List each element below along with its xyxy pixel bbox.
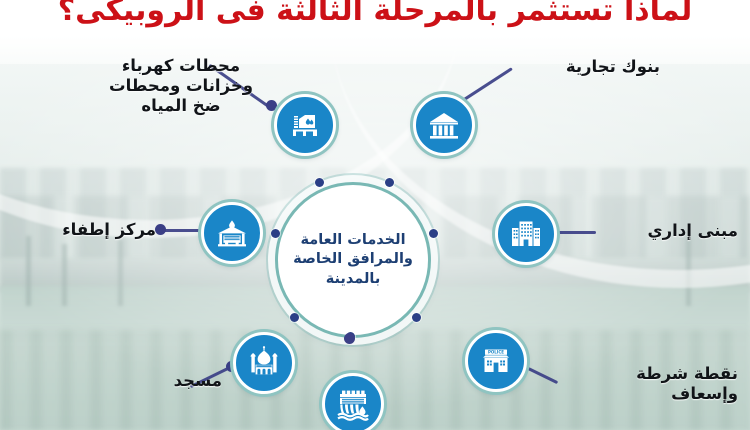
hub-ring-dot-5	[290, 313, 299, 322]
label-power-water: محطات كهرباء وخزانات ومحطات ضخ المياه	[88, 56, 274, 116]
node-power-water[interactable]	[274, 94, 336, 156]
hub-line-1: الخدمات العامة	[293, 231, 413, 250]
water-tank-station-icon	[287, 107, 323, 143]
hub-ring-dot-1	[315, 178, 324, 187]
police-station-icon: POLICE	[478, 343, 514, 379]
fire-station-icon	[214, 215, 250, 251]
svg-text:POLICE: POLICE	[488, 350, 504, 355]
hub-ring-dot-4	[429, 229, 438, 238]
node-banks[interactable]	[413, 94, 475, 156]
center-hub-text: الخدمات العامة والمرافق الخاصة بالمدينة	[283, 231, 423, 289]
page-title: لماذا تستثمر بالمرحلة الثالثة فى الروبيك…	[0, 0, 750, 34]
connector-dot-water-treatment	[344, 333, 355, 344]
label-fire-station: مركز إطفاء	[48, 220, 156, 240]
node-water-treatment[interactable]	[322, 373, 384, 430]
bank-building-icon	[426, 107, 462, 143]
mosque-icon	[246, 345, 282, 381]
hub-line-3: بالمدينة	[293, 270, 413, 289]
office-building-icon	[508, 216, 544, 252]
label-mosque: مسجد	[110, 371, 222, 391]
hub-ring-dot-3	[271, 229, 280, 238]
infographic-canvas: لماذا تستثمر بالمرحلة الثالثة فى الروبيك…	[0, 0, 750, 430]
water-treatment-plant-icon	[335, 386, 371, 422]
node-fire-station[interactable]	[201, 202, 263, 264]
hub-ring-dot-6	[412, 313, 421, 322]
node-police-ambulance[interactable]: POLICE	[465, 330, 527, 392]
label-banks: بنوك تجارية	[500, 57, 660, 77]
hub-line-2: والمرافق الخاصة	[293, 250, 413, 269]
node-admin-building[interactable]	[495, 203, 557, 265]
label-admin-building: مبنى إداري	[598, 221, 738, 241]
connector-dot-fire	[155, 224, 166, 235]
connector-fire	[160, 229, 204, 232]
label-police-ambulance: نقطة شرطة وإسعاف	[556, 364, 738, 404]
hub-ring-dot-2	[385, 178, 394, 187]
node-mosque[interactable]	[233, 332, 295, 394]
